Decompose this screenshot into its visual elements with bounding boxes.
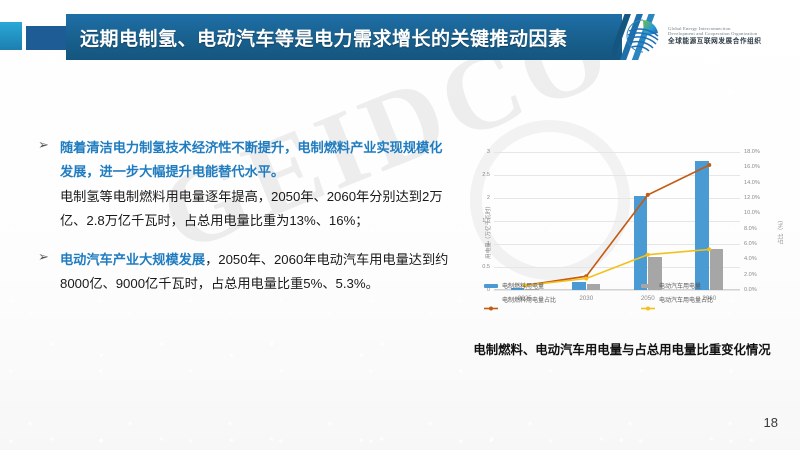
bullet-item-1: ➢ 随着清洁电力制氢技术经济性不断提升，电制燃料产业实现规模化发展，进一步大幅提… bbox=[34, 136, 454, 234]
legend-bar-swatch bbox=[484, 284, 498, 288]
header-accent-block bbox=[26, 26, 70, 50]
legend-label: 电动汽车用电量 bbox=[659, 281, 701, 290]
chart-y-tick: 2 bbox=[487, 195, 490, 201]
chart-y2-axis-label: 占比（%） bbox=[776, 217, 784, 244]
chart-y2-tick: 16.0% bbox=[744, 164, 760, 170]
chart-y-axis-label: 用电量（万亿千瓦时） bbox=[484, 203, 492, 259]
chart-line-marker bbox=[707, 163, 711, 167]
legend-bar-swatch bbox=[641, 284, 655, 288]
legend-line-swatch bbox=[484, 298, 498, 302]
chart-line-marker bbox=[646, 253, 650, 257]
legend-label: 电制燃料用电量 bbox=[502, 281, 544, 290]
title-bar: 远期电制氢、电动汽车等是电力需求增长的关键推动因素 bbox=[66, 14, 622, 60]
chart-y2-tick: 14.0% bbox=[744, 180, 760, 186]
globe-logo-icon bbox=[624, 17, 662, 55]
bullet-item-2: ➢ 电动汽车产业大规模发展，2050年、2060年电动汽车用电量达到约8000亿… bbox=[34, 248, 454, 297]
chart-y2-tick: 4.0% bbox=[744, 256, 757, 262]
legend-label: 电制燃料用电量占比 bbox=[502, 295, 556, 304]
chart-line-marker bbox=[707, 247, 711, 251]
organization-logo: Global Energy Interconnection Developmen… bbox=[624, 10, 796, 62]
page-number: 18 bbox=[764, 415, 778, 430]
chart-line-marker bbox=[584, 277, 588, 281]
legend-label: 电动汽车用电量占比 bbox=[659, 295, 713, 304]
legend-line-swatch bbox=[641, 298, 655, 302]
chart-y2-tick: 12.0% bbox=[744, 195, 760, 201]
chart-legend: 电制燃料用电量电动汽车用电量电制燃料用电量占比电动汽车用电量占比 bbox=[470, 281, 792, 304]
chart-caption: 电制燃料、电动汽车用电量与占总用电量比重变化情况 bbox=[452, 340, 792, 358]
chart-plot-area: 00.511.522.53 0.0%2.0%4.0%6.0%8.0%10.0%1… bbox=[494, 152, 740, 290]
chart-y-tick: 0.5 bbox=[482, 264, 490, 270]
logo-chinese-name: 全球能源互联网发展合作组织 bbox=[668, 38, 762, 46]
bullet-2-lead: 电动汽车产业大规模发展 bbox=[60, 252, 205, 267]
chart-y2-tick: 10.0% bbox=[744, 210, 760, 216]
legend-item[interactable]: 电动汽车用电量占比 bbox=[641, 295, 792, 304]
chart-y2-tick: 2.0% bbox=[744, 272, 757, 278]
chart-y-tick: 1 bbox=[487, 241, 490, 247]
chart-y-tick: 1.5 bbox=[482, 218, 490, 224]
page-title: 远期电制氢、电动汽车等是电力需求增长的关键推动因素 bbox=[66, 24, 568, 51]
arrow-bullet-icon: ➢ bbox=[38, 138, 49, 151]
slide-root: GEIDCO 远期电制氢、电动汽车等是电力需求增长的关键推动因素 bbox=[0, 0, 800, 450]
chart-lines-group bbox=[494, 152, 740, 290]
arrow-bullet-icon: ➢ bbox=[38, 250, 49, 263]
chart-y2-tick: 18.0% bbox=[744, 149, 760, 155]
chart-y2-tick: 8.0% bbox=[744, 226, 757, 232]
bullet-1-body: 电制氢等电制燃料用电量逐年提高，2050年、2060年分别达到2万亿、2.8万亿… bbox=[60, 185, 454, 234]
chart-line-marker bbox=[646, 193, 650, 197]
bullet-1-paragraph: 随着清洁电力制氢技术经济性不断提升，电制燃料产业实现规模化发展，进一步大幅提升电… bbox=[60, 136, 454, 185]
legend-item[interactable]: 电动汽车用电量 bbox=[641, 281, 792, 290]
chart-y2-tick: 6.0% bbox=[744, 241, 757, 247]
header-accent-left bbox=[0, 22, 22, 50]
bullet-2-paragraph: 电动汽车产业大规模发展，2050年、2060年电动汽车用电量达到约8000亿、9… bbox=[60, 248, 454, 297]
logo-english-line2: Development and Cooperation Organization bbox=[668, 31, 762, 36]
legend-item[interactable]: 电制燃料用电量 bbox=[484, 281, 635, 290]
bullet-1-lead: 随着清洁电力制氢技术经济性不断提升，电制燃料产业实现规模化发展，进一步大幅提升电… bbox=[60, 140, 442, 179]
legend-item[interactable]: 电制燃料用电量占比 bbox=[484, 295, 635, 304]
chart-y-tick: 3 bbox=[487, 149, 490, 155]
chart-y-tick: 2.5 bbox=[482, 172, 490, 178]
chart-line bbox=[525, 249, 710, 285]
content-body: ➢ 随着清洁电力制氢技术经济性不断提升，电制燃料产业实现规模化发展，进一步大幅提… bbox=[34, 136, 454, 311]
